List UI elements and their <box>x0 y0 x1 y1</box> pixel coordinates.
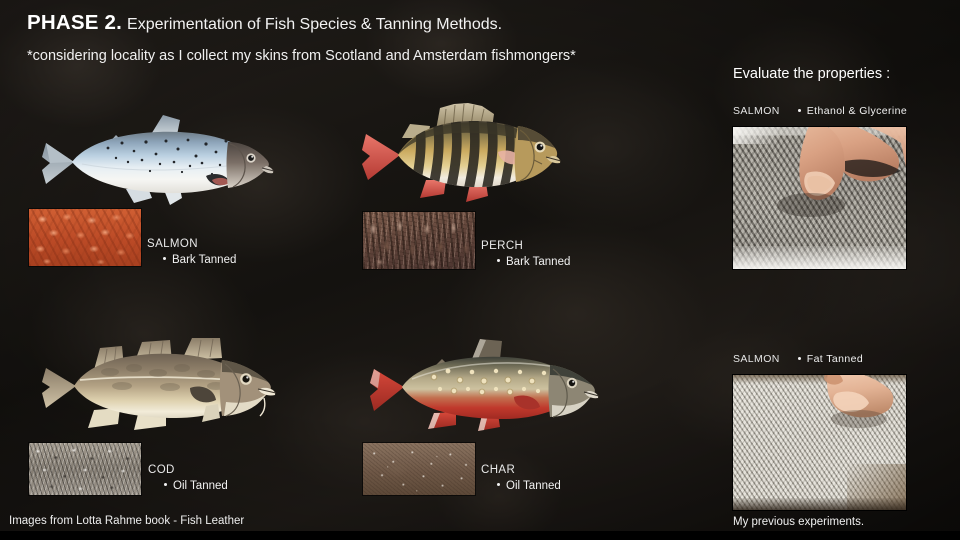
caption-method-label-salmon: Bark Tanned <box>172 254 236 266</box>
cod-oil-tanned-leather-swatch <box>29 443 141 495</box>
caption-salmon: SALMON Bark Tanned <box>147 237 236 268</box>
page-subtitle: *considering locality as I collect my sk… <box>27 48 727 64</box>
caption-method-cod: Oil Tanned <box>164 479 228 494</box>
right-method-label-2: Fat Tanned <box>807 353 863 365</box>
perch-illustration <box>358 100 563 205</box>
caption-cod: COD Oil Tanned <box>148 463 228 494</box>
bullet-dot-icon <box>798 357 801 360</box>
right-label-ethanol-glycerine: SALMONEthanol & Glycerine <box>733 105 907 117</box>
slide-root: PHASE 2.Experimentation of Fish Species … <box>0 0 960 540</box>
salmon-illustration <box>30 110 280 210</box>
caption-method-salmon: Bark Tanned <box>163 253 236 268</box>
footer-note: My previous experiments. <box>733 516 864 528</box>
bullet-dot-icon <box>164 483 167 486</box>
caption-species-cod: COD <box>148 463 228 477</box>
photo-salmon-ethanol-glycerine <box>733 127 906 269</box>
right-method-2: Fat Tanned <box>798 353 863 365</box>
caption-method-label-char: Oil Tanned <box>506 480 561 492</box>
right-species-1: SALMON <box>733 105 780 117</box>
bullet-dot-icon <box>497 259 500 262</box>
caption-method-perch: Bark Tanned <box>497 255 570 270</box>
char-oil-tanned-leather-swatch <box>363 443 475 495</box>
bullet-dot-icon <box>163 257 166 260</box>
bullet-dot-icon <box>798 109 801 112</box>
cod-illustration <box>30 330 280 435</box>
caption-char: CHAR Oil Tanned <box>481 463 561 494</box>
page-title: PHASE 2.Experimentation of Fish Species … <box>27 11 727 35</box>
caption-perch: PERCH Bark Tanned <box>481 239 570 270</box>
right-method-label-1: Ethanol & Glycerine <box>807 105 907 117</box>
caption-species-perch: PERCH <box>481 239 570 253</box>
footer-credit: Images from Lotta Rahme book - Fish Leat… <box>9 515 244 527</box>
perch-bark-tanned-leather-swatch <box>363 212 475 269</box>
right-species-2: SALMON <box>733 353 780 365</box>
photo-salmon-fat-tanned <box>733 375 906 510</box>
caption-method-label-perch: Bark Tanned <box>506 256 570 268</box>
salmon-bark-tanned-leather-swatch <box>29 209 141 266</box>
caption-species-salmon: SALMON <box>147 237 236 251</box>
right-panel-heading: Evaluate the properties : <box>733 66 890 82</box>
page-title-phase: PHASE 2. <box>27 11 122 34</box>
page-title-description: Experimentation of Fish Species & Tannin… <box>127 16 502 33</box>
bullet-dot-icon <box>497 483 500 486</box>
slide-header: PHASE 2.Experimentation of Fish Species … <box>27 11 727 64</box>
caption-method-label-cod: Oil Tanned <box>173 480 228 492</box>
caption-species-char: CHAR <box>481 463 561 477</box>
char-illustration <box>360 335 600 435</box>
right-method-1: Ethanol & Glycerine <box>798 105 907 117</box>
footer-bar <box>0 531 960 540</box>
caption-method-char: Oil Tanned <box>497 479 561 494</box>
right-label-fat-tanned: SALMONFat Tanned <box>733 353 863 365</box>
